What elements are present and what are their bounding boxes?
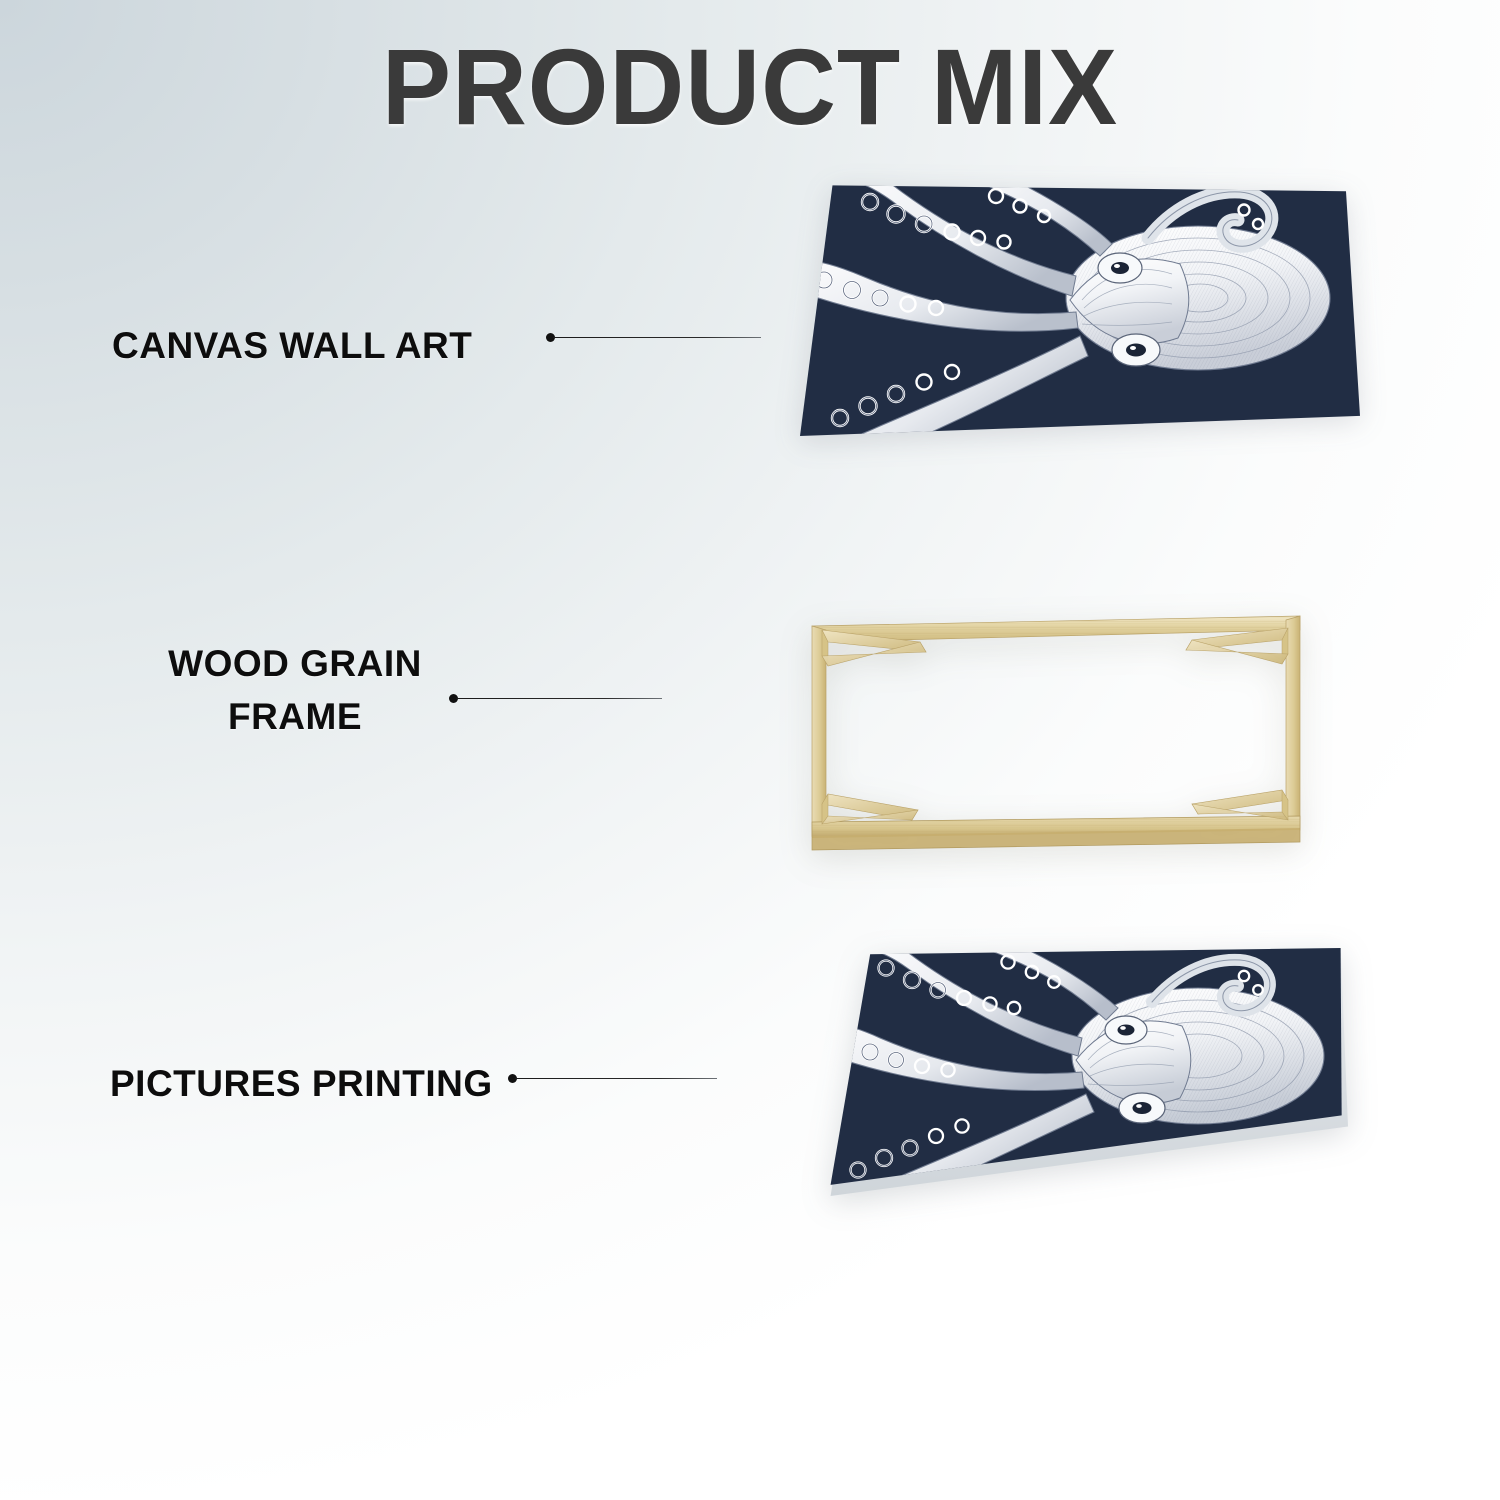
leader-stroke: [515, 1078, 717, 1080]
product-canvas-wall-art: [800, 180, 1360, 448]
leader-stroke: [553, 337, 761, 339]
callout-label-canvas-wall-art: CANVAS WALL ART: [112, 320, 472, 373]
infographic-canvas: PRODUCT MIX CANVAS WALL ART: [0, 0, 1500, 1500]
canvas-panel: [800, 180, 1360, 448]
callout-label-wood-grain-frame: WOOD GRAIN FRAME: [150, 638, 440, 743]
product-wood-grain-frame: [792, 608, 1322, 856]
callout-label-pictures-printing: PICTURES PRINTING: [110, 1058, 493, 1111]
wood-frame-icon: [792, 608, 1322, 856]
octopus-artwork-icon: [800, 180, 1360, 448]
product-pictures-printing: [820, 948, 1348, 1196]
page-title: PRODUCT MIX: [30, 24, 1470, 149]
leader-stroke: [456, 698, 662, 700]
